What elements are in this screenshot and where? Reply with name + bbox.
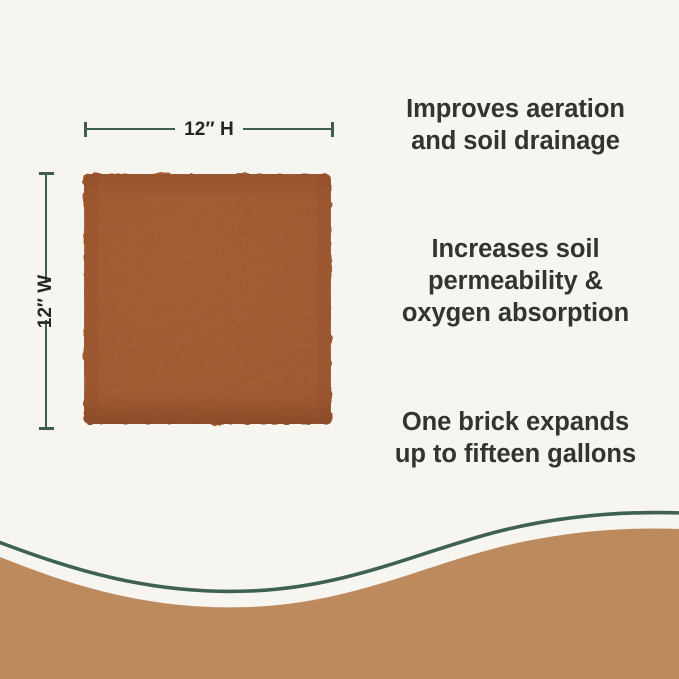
benefit-line: and soil drainage	[352, 125, 679, 157]
dimension-rule-bottom	[45, 320, 47, 428]
benefit-line: Increases soil	[352, 233, 679, 265]
benefit-permeability-oxygen: Increases soil permeability & oxygen abs…	[352, 233, 679, 329]
dimension-callout-horizontal: 12″ H	[84, 112, 334, 146]
dimension-rule-right	[243, 128, 331, 130]
wave-fill-shape	[0, 529, 679, 679]
dimension-end-cap-bottom	[39, 427, 54, 430]
benefit-aeration-drainage: Improves aeration and soil drainage	[352, 93, 679, 157]
dimension-label-height: 12″ H	[175, 120, 243, 139]
wave-graphic	[0, 499, 679, 679]
dimension-callout-vertical: 12″ W	[29, 172, 63, 430]
benefit-line: Improves aeration	[352, 93, 679, 125]
benefit-line: up to fifteen gallons	[352, 438, 679, 470]
product-panel: 12″ H 12″ W	[0, 0, 350, 520]
benefits-column: Improves aeration and soil drainage Incr…	[352, 0, 679, 520]
benefit-line: permeability &	[352, 265, 679, 297]
coir-brick-graphic	[78, 168, 337, 430]
dimension-end-cap-right	[331, 122, 334, 137]
coir-brick-image	[78, 168, 337, 430]
wave-outline-line	[0, 513, 679, 592]
benefit-line: oxygen absorption	[352, 297, 679, 329]
dimension-rule-left	[87, 128, 175, 130]
benefit-line: One brick expands	[352, 406, 679, 438]
dimension-label-width: 12″ W	[28, 274, 65, 327]
dimension-rule-top	[45, 175, 47, 283]
benefit-expansion-volume: One brick expands up to fifteen gallons	[352, 406, 679, 470]
bottom-wave-decoration	[0, 499, 679, 679]
infographic-canvas: 12″ H 12″ W	[0, 0, 679, 679]
